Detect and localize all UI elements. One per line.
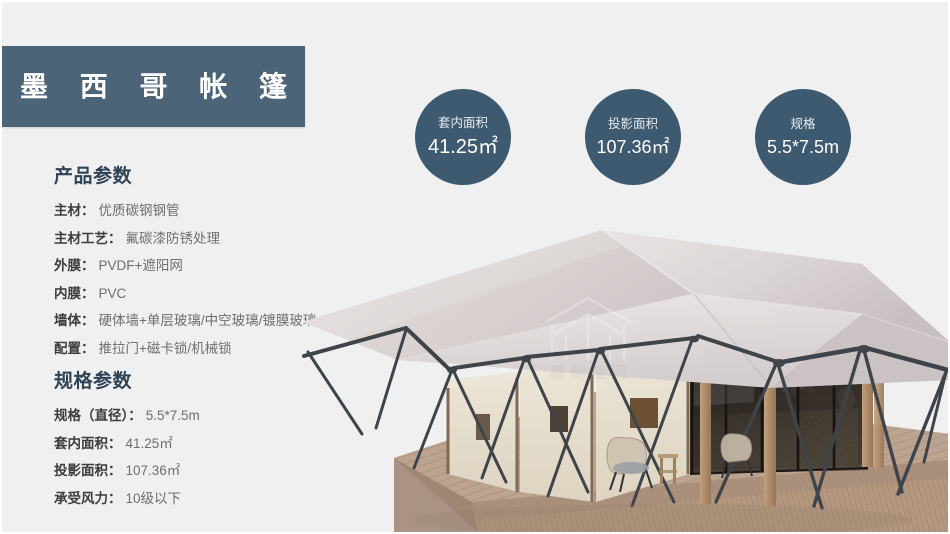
stat-badge-label: 投影面积 (608, 118, 658, 131)
spec-value: 5.5*7.5m (146, 409, 200, 423)
slide-root: 墨 西 哥 帐 篷 产品参数 主材： 优质碳钢钢管 主材工艺： 氟碳漆防锈处理 … (0, 0, 950, 534)
stat-badge-interior-area: 套内面积 41.25㎡ (415, 89, 511, 185)
slide-canvas: 墨 西 哥 帐 篷 产品参数 主材： 优质碳钢钢管 主材工艺： 氟碳漆防锈处理 … (2, 2, 948, 532)
section-heading-spec: 规格参数 (54, 372, 200, 391)
stat-badge-projected-area: 投影面积 107.36㎡ (585, 89, 681, 185)
spec-row: 墙体： 硬体墙+单层玻璃/中空玻璃/镀膜玻璃 (54, 314, 316, 328)
stat-badge-value: 41.25㎡ (428, 137, 498, 157)
tent-render-image: 墨 刻 空 间 (302, 202, 948, 532)
spec-value: 优质碳钢钢管 (99, 204, 180, 218)
spec-label: 主材工艺： (54, 232, 122, 246)
spec-row: 投影面积： 107.36㎡ (54, 464, 200, 478)
spec-row: 套内面积： 41.25㎡ (54, 437, 200, 451)
specification-parameters-section: 规格参数 规格（直径）： 5.5*7.5m 套内面积： 41.25㎡ 投影面积：… (54, 372, 200, 519)
stat-badge-value: 5.5*7.5m (767, 138, 839, 156)
spec-row: 承受风力： 10级以下 (54, 492, 200, 506)
spec-value: 氟碳漆防锈处理 (126, 232, 221, 246)
spec-row: 主材： 优质碳钢钢管 (54, 204, 316, 218)
spec-label: 墙体： (54, 314, 95, 328)
spec-label: 套内面积： (54, 437, 122, 451)
title-banner: 墨 西 哥 帐 篷 (2, 46, 305, 127)
spec-row: 规格（直径）： 5.5*7.5m (54, 409, 200, 423)
spec-label: 规格（直径）： (54, 409, 142, 423)
spec-value: PVC (99, 287, 127, 301)
spec-label: 主材： (54, 204, 95, 218)
page-title: 墨 西 哥 帐 篷 (8, 73, 299, 101)
spec-label: 投影面积： (54, 464, 122, 478)
spec-row: 内膜： PVC (54, 287, 316, 301)
spec-label: 内膜： (54, 287, 95, 301)
spec-value: 推拉门+磁卡锁/机械锁 (99, 342, 232, 356)
spec-value: 硬体墙+单层玻璃/中空玻璃/镀膜玻璃 (99, 314, 317, 328)
stat-badge-dimensions: 规格 5.5*7.5m (755, 89, 851, 185)
spec-value: 41.25㎡ (126, 437, 173, 451)
tent-render-svg: 墨 刻 空 间 (302, 202, 948, 532)
spec-label: 外膜： (54, 259, 95, 273)
spec-row: 主材工艺： 氟碳漆防锈处理 (54, 232, 316, 246)
spec-label: 承受风力： (54, 492, 122, 506)
stat-badge-label: 规格 (790, 118, 815, 131)
spec-label: 配置： (54, 342, 95, 356)
section-heading-product: 产品参数 (54, 167, 316, 186)
wall-window (630, 398, 658, 428)
spec-row: 配置： 推拉门+磁卡锁/机械锁 (54, 342, 316, 356)
spec-value: 107.36㎡ (126, 464, 181, 478)
spec-value: 10级以下 (126, 492, 182, 506)
stat-badge-label: 套内面积 (438, 117, 488, 130)
spec-row: 外膜： PVDF+遮阳网 (54, 259, 316, 273)
stat-badge-value: 107.36㎡ (596, 138, 669, 156)
spec-value: PVDF+遮阳网 (99, 259, 183, 273)
product-parameters-section: 产品参数 主材： 优质碳钢钢管 主材工艺： 氟碳漆防锈处理 外膜： PVDF+遮… (54, 167, 316, 369)
